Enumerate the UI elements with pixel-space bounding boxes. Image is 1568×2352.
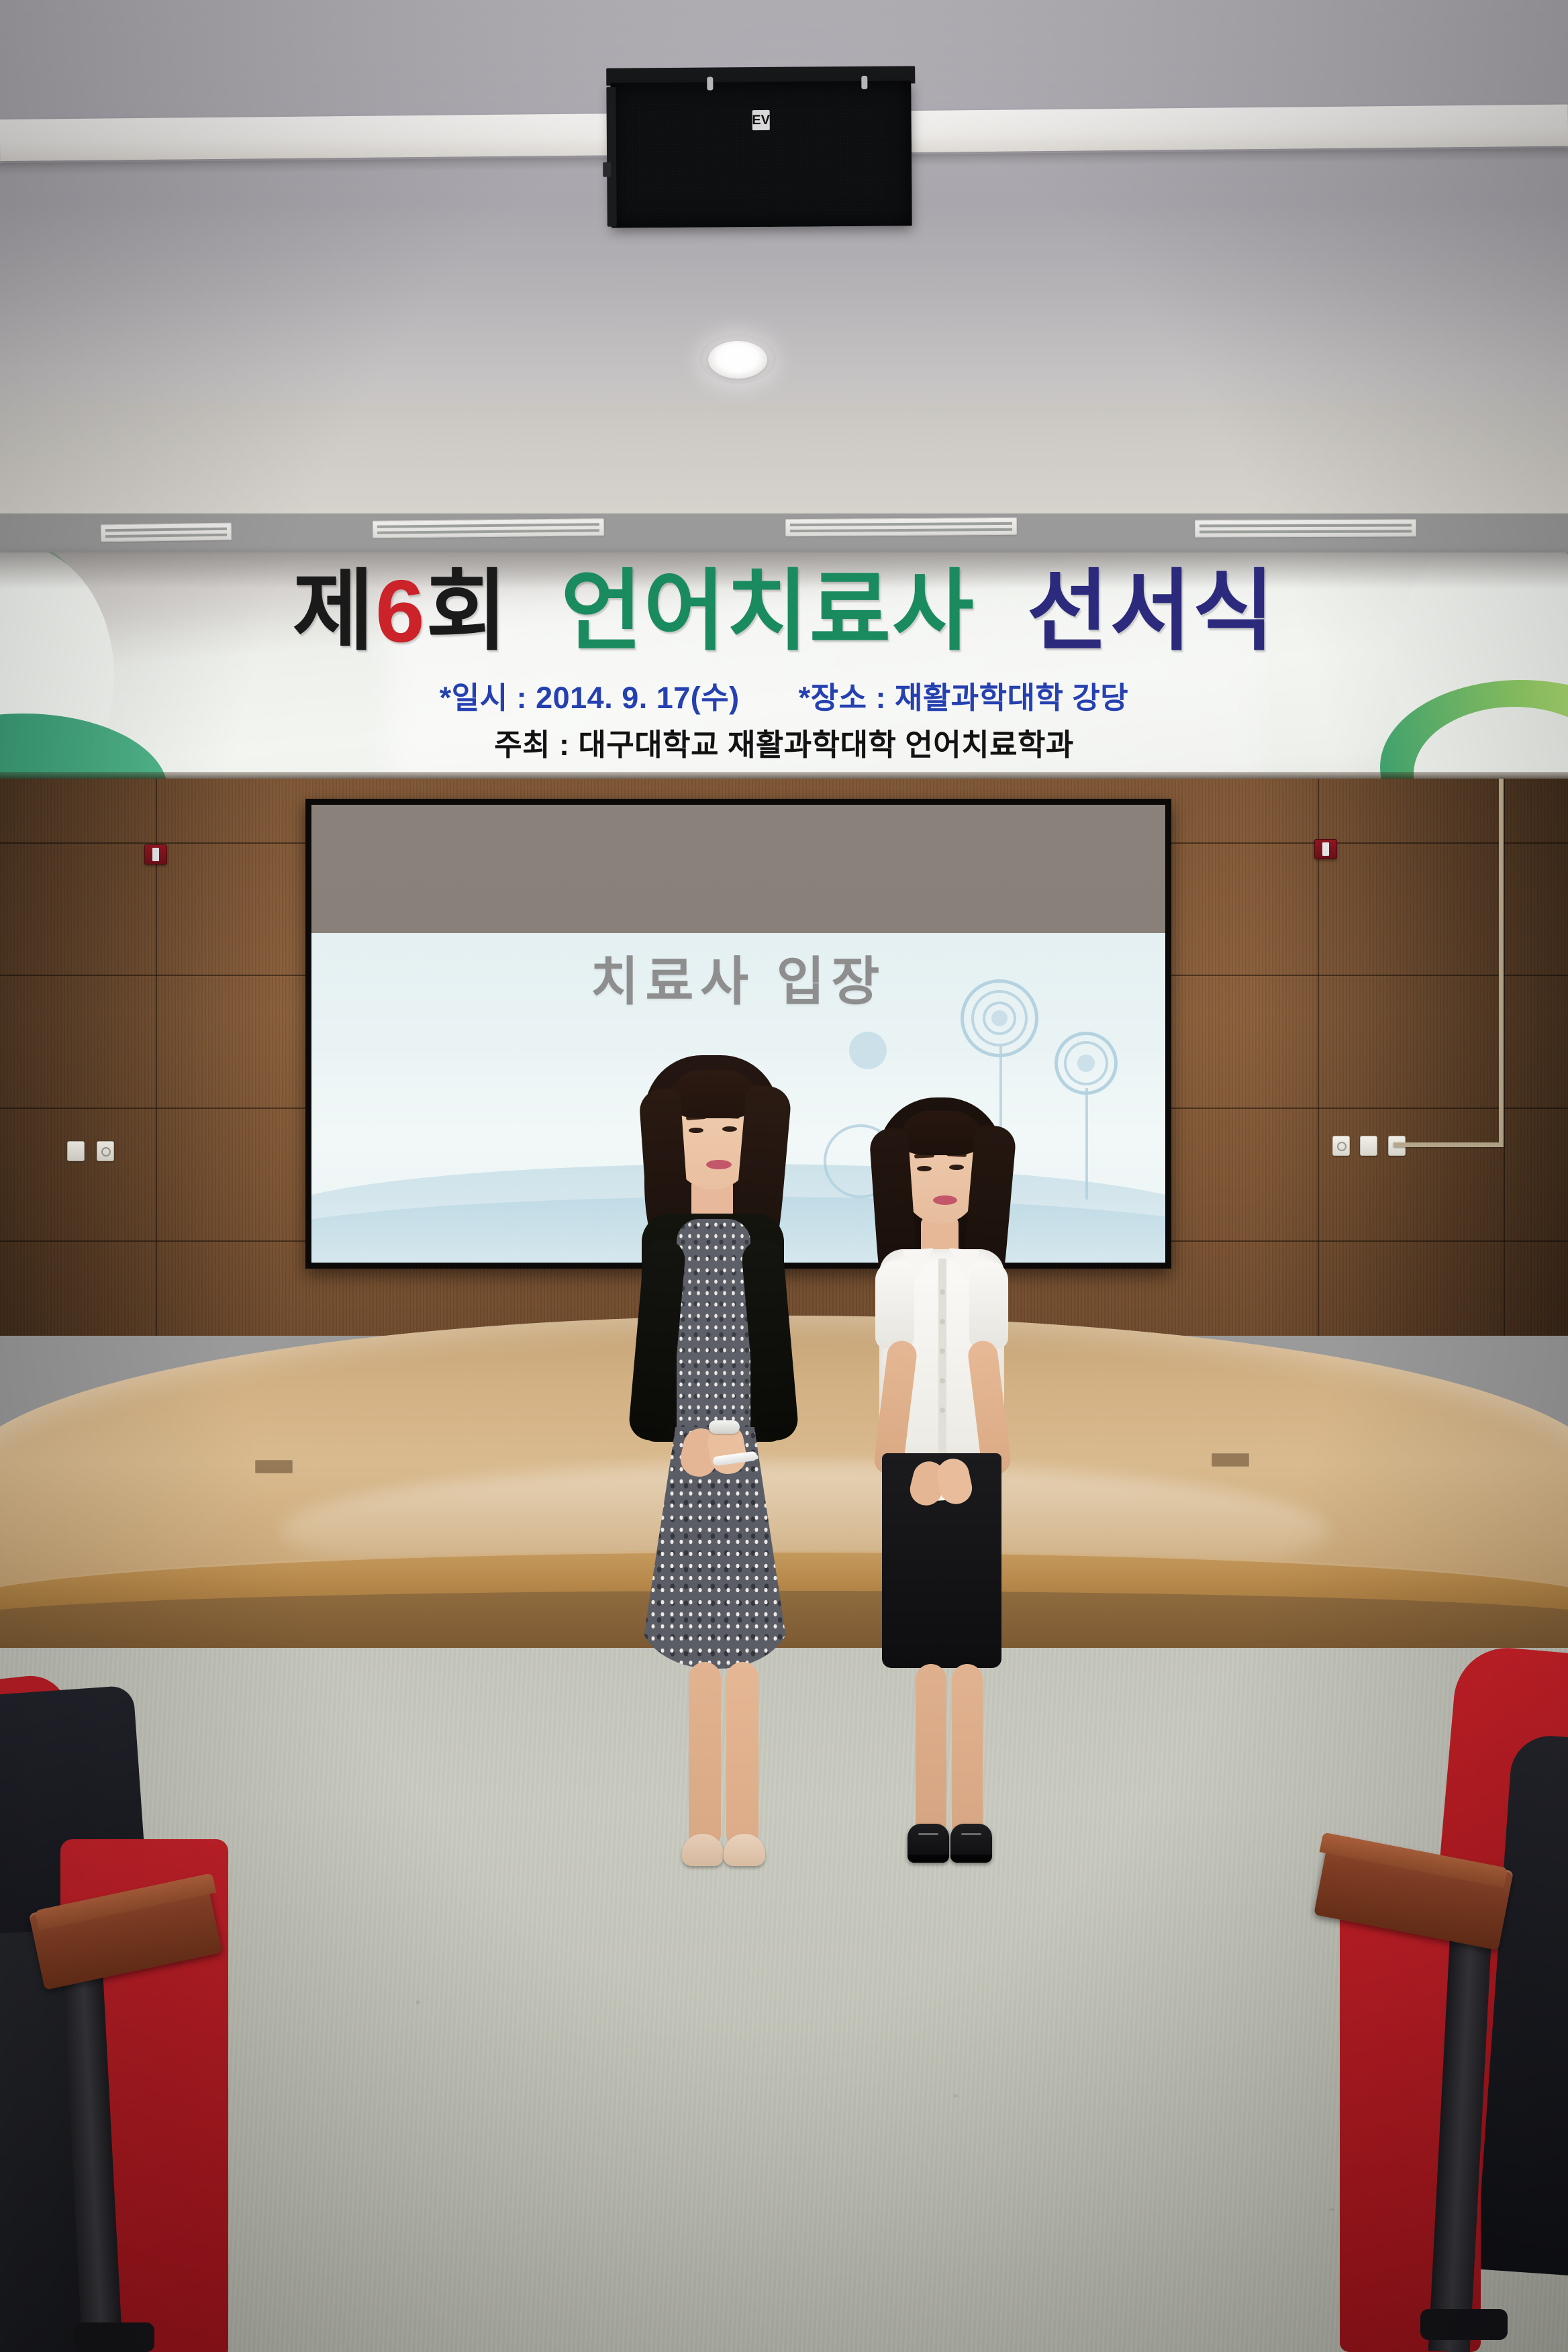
ceiling-speaker: EV	[606, 66, 916, 229]
person-right-button-4	[940, 1378, 945, 1383]
person-right-button-5	[940, 1408, 945, 1413]
floor-speck-2	[953, 2094, 958, 2098]
person-right-button-placket	[938, 1259, 946, 1460]
chair-left	[0, 1678, 262, 2352]
chair-left-base	[74, 2322, 154, 2352]
slide-tree-core-2	[1077, 1055, 1095, 1072]
wall-shadow-right	[1253, 779, 1568, 1336]
fire-alarm-bell-icon-left	[144, 844, 167, 865]
person-right-leg-l	[916, 1664, 946, 1841]
chair-right	[1286, 1651, 1568, 2352]
banner-subtitle-row: *일시 : 2014. 9. 17(수)*장소 : 재활과학대학 강당	[0, 673, 1568, 717]
banner-title: 제6회 언어치료사 선서식	[0, 567, 1568, 656]
ceiling-air-vent-3	[785, 518, 1017, 536]
slide-tree-core-1	[991, 1010, 1008, 1026]
speaker-bolt-right	[861, 76, 867, 89]
ceiling-lower-band	[0, 403, 1568, 513]
person-right-hair-fringe	[899, 1111, 983, 1155]
stage-floor-vent-right	[1212, 1453, 1249, 1467]
speaker-grille	[610, 81, 912, 228]
wall-outlet-right-2	[1360, 1136, 1377, 1156]
speaker-tilt-tab	[603, 162, 611, 177]
photograph-canvas: EV 제6회 언어치료사 선서식 *일시 : 2014. 9. 17(수)*장소…	[0, 0, 1568, 2352]
person-right-leg-r	[952, 1664, 983, 1841]
speaker-bolt-left	[707, 77, 713, 90]
projection-unlit-band	[311, 805, 1165, 933]
person-left-leg-r	[726, 1662, 758, 1850]
person-right-shoe-r	[950, 1824, 992, 1863]
person-right-shoe-sole-r	[950, 1855, 992, 1863]
wall-cable-conduit-vertical	[1499, 779, 1504, 1146]
ceiling-air-vent-4	[1195, 519, 1416, 537]
ceremony-banner: 제6회 언어치료사 선서식 *일시 : 2014. 9. 17(수)*장소 : …	[0, 552, 1568, 781]
banner-title-part-5: 선서식	[1027, 562, 1275, 660]
floor-speck-1	[416, 2000, 420, 2004]
banner-place-label: *장소 : 재활과학대학 강당	[799, 681, 1129, 715]
wall-outlet-left	[97, 1141, 114, 1161]
person-right-shoe-lace-l	[918, 1833, 938, 1835]
person-right	[859, 1091, 1067, 1890]
speaker-brand-badge: EV	[752, 110, 770, 130]
person-right-lips	[933, 1195, 957, 1205]
person-right-eye-l	[917, 1166, 932, 1171]
banner-title-part-1: 제	[293, 562, 375, 660]
banner-title-part-3: 회	[426, 562, 509, 660]
person-left-eye-r	[722, 1126, 737, 1132]
ceiling-air-vent-1	[101, 523, 232, 542]
person-right-button-2	[940, 1319, 945, 1324]
person-left-wristwatch	[709, 1420, 740, 1434]
ceiling-air-vent-2	[373, 518, 604, 538]
person-right-sleeve-r	[969, 1261, 1008, 1349]
person-right-button-1	[940, 1289, 945, 1295]
person-left-eye-l	[689, 1128, 703, 1133]
wall-switch-plate-left	[67, 1141, 85, 1161]
ceiling-downlight-icon	[708, 341, 767, 379]
wall-outlet-right-1	[1332, 1136, 1350, 1156]
person-right-shoe-l	[908, 1824, 949, 1863]
chair-right-base	[1420, 2309, 1508, 2340]
wall-cable-conduit-horizontal	[1393, 1142, 1504, 1147]
person-left-lips	[706, 1160, 732, 1169]
speaker-brand-label: EV	[752, 113, 770, 127]
banner-host-label: 주최 : 대구대학교 재활과학대학 언어치료학과	[0, 720, 1568, 764]
stage-floor-vent-left	[255, 1460, 293, 1473]
person-left	[624, 1047, 866, 1886]
banner-title-part-4: 언어치료사	[560, 562, 975, 660]
banner-title-edition-number: 6	[375, 562, 426, 660]
person-left-dress-bodice	[677, 1219, 750, 1440]
person-right-shoe-sole-l	[908, 1855, 949, 1863]
person-right-shoe-lace-r	[961, 1833, 981, 1835]
banner-date-label: *일시 : 2014. 9. 17(수)	[440, 681, 740, 715]
person-left-shoe-r	[724, 1834, 765, 1866]
fire-alarm-bell-icon-right	[1314, 839, 1337, 859]
person-right-eye-r	[949, 1165, 964, 1170]
speaker-side-rail	[606, 87, 616, 227]
person-right-button-3	[940, 1349, 945, 1354]
person-right-sleeve-l	[875, 1261, 914, 1349]
person-left-leg-l	[689, 1662, 721, 1850]
